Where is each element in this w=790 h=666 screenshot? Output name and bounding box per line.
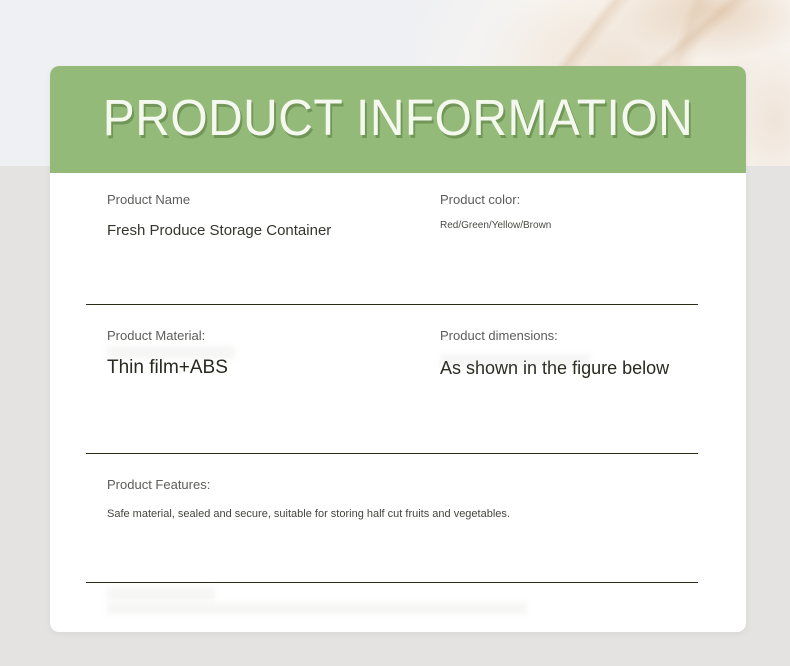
spec-field-product-color: Product color: Red/Green/Yellow/Brown bbox=[440, 173, 730, 233]
page-background: PRODUCT INFORMATION Product Name Fresh P… bbox=[0, 0, 790, 666]
product-name-label: Product Name bbox=[107, 191, 437, 208]
product-dimensions-label: Product dimensions: bbox=[440, 327, 730, 344]
spec-field-product-material: Product Material: Thin film+ABS bbox=[107, 306, 437, 380]
spec-field-product-dimensions: Product dimensions: As shown in the figu… bbox=[440, 306, 730, 380]
page-title: PRODUCT INFORMATION bbox=[71, 87, 725, 148]
product-dimensions-value: As shown in the figure below bbox=[440, 356, 730, 380]
spec-row-material-dimensions: Product Material: Thin film+ABS Product … bbox=[50, 306, 746, 455]
product-features-value: Safe material, sealed and secure, suitab… bbox=[107, 506, 707, 522]
product-material-value: Thin film+ABS bbox=[107, 356, 437, 380]
product-material-label: Product Material: bbox=[107, 327, 437, 344]
card-header-banner: PRODUCT INFORMATION bbox=[50, 66, 746, 173]
divider-1 bbox=[86, 304, 698, 305]
product-name-value: Fresh Produce Storage Container bbox=[107, 221, 437, 240]
product-information-card: PRODUCT INFORMATION Product Name Fresh P… bbox=[50, 66, 746, 632]
spec-field-product-features: Product Features: Safe material, sealed … bbox=[107, 455, 707, 522]
product-features-label: Product Features: bbox=[107, 476, 707, 493]
divider-3 bbox=[86, 582, 698, 583]
product-color-value: Red/Green/Yellow/Brown bbox=[440, 219, 588, 233]
product-color-label: Product color: bbox=[440, 191, 730, 208]
spec-field-product-name: Product Name Fresh Produce Storage Conta… bbox=[107, 173, 437, 240]
card-body: Product Name Fresh Produce Storage Conta… bbox=[50, 173, 746, 632]
spec-row-product-features: Product Features: Safe material, sealed … bbox=[50, 455, 746, 632]
divider-2 bbox=[86, 453, 698, 454]
spec-row-product-name: Product Name Fresh Produce Storage Conta… bbox=[50, 173, 746, 306]
